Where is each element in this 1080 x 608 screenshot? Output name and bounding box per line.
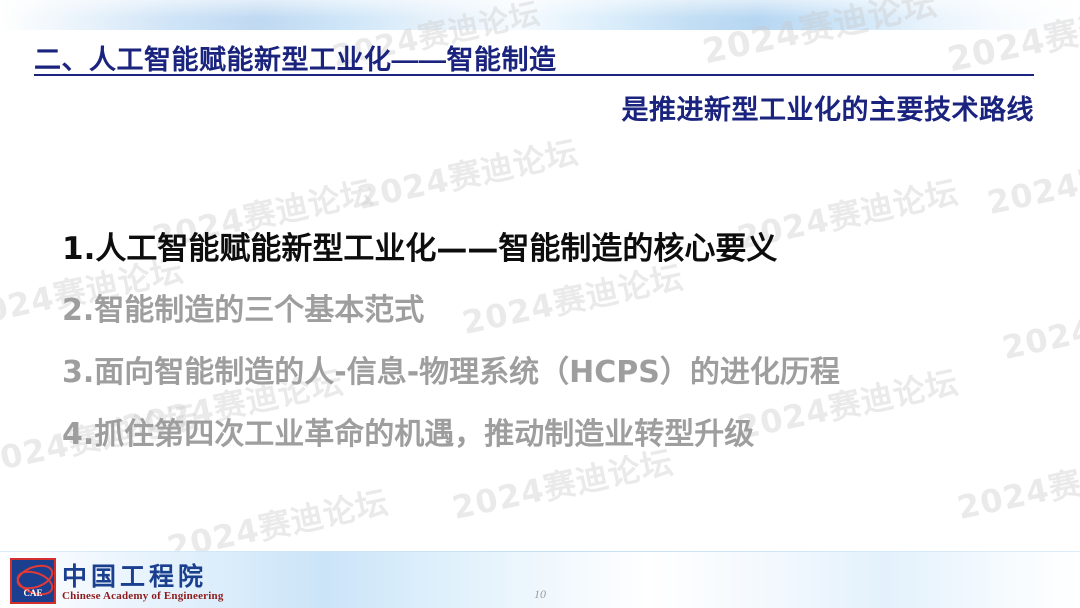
- title-underline: [34, 74, 1034, 76]
- top-decorative-band: [0, 0, 1080, 30]
- slide-canvas: 2024赛迪论坛 2024赛迪论坛 2024赛迪论坛 2024赛迪论坛 2024…: [0, 0, 1080, 608]
- list-item: 1.人工智能赋能新型工业化——智能制造的核心要义: [62, 218, 1052, 280]
- agenda-list: 1.人工智能赋能新型工业化——智能制造的核心要义 2.智能制造的三个基本范式 3…: [62, 218, 1052, 466]
- watermark: 2024赛迪论坛: [353, 127, 583, 219]
- list-item: 4.抓住第四次工业革命的机遇，推动制造业转型升级: [62, 404, 1052, 466]
- watermark: 2024赛迪论坛: [983, 132, 1080, 224]
- list-item: 2.智能制造的三个基本范式: [62, 280, 1052, 342]
- list-item: 3.面向智能制造的人-信息-物理系统（HCPS）的进化历程: [62, 342, 1052, 404]
- page-number: 10: [0, 587, 1080, 602]
- page-title-line-2: 是推进新型工业化的主要技术路线: [622, 88, 1035, 127]
- page-title-line-1: 二、人工智能赋能新型工业化——智能制造: [34, 38, 557, 77]
